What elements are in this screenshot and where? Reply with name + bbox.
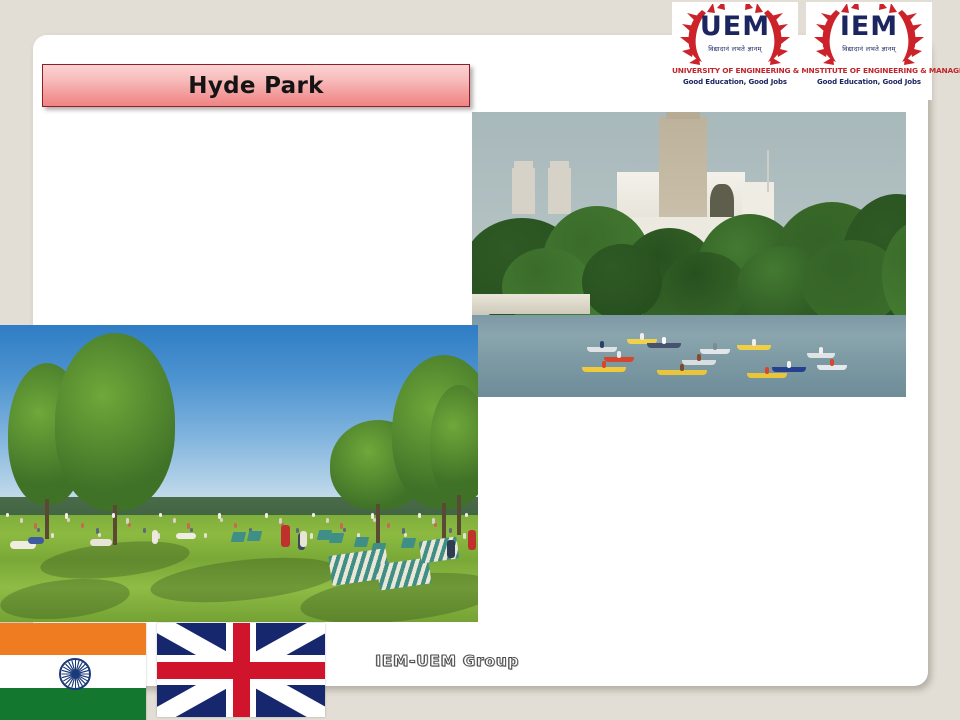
park-visitor [204, 533, 207, 538]
park-visitor [343, 528, 346, 532]
boater [752, 339, 756, 346]
boater [713, 343, 717, 350]
lawn-tree [55, 333, 175, 545]
park-visitor [152, 530, 158, 544]
india-flag [0, 623, 146, 720]
tree-trunk [45, 499, 49, 539]
rowing-boat [682, 360, 716, 365]
park-visitor [468, 530, 476, 550]
deck-chair [247, 531, 262, 541]
park-visitor [20, 518, 23, 523]
slide-title-box: Hyde Park [42, 64, 470, 107]
flag-mast [767, 150, 769, 192]
iem-logo-mark: IEM [806, 12, 932, 42]
park-visitor [6, 513, 9, 517]
boater [830, 359, 834, 366]
rowing-boat [604, 357, 634, 362]
tree-trunk [113, 505, 117, 545]
iem-logo-tagline: Good Education, Good Jobs [806, 78, 932, 86]
lawn-tree [430, 385, 478, 535]
park-visitor [281, 525, 290, 547]
park-visitor [447, 540, 455, 558]
rowing-boat [657, 370, 707, 375]
park-visitor [265, 513, 268, 518]
page-title: Hyde Park [188, 73, 323, 99]
serpentine-photo [472, 112, 906, 397]
park-visitor [465, 513, 468, 517]
uem-logo-tagline: Good Education, Good Jobs [672, 78, 798, 86]
rowing-boat [582, 367, 626, 372]
serpentine-water [472, 315, 906, 397]
park-visitor [326, 518, 329, 523]
deck-chair [354, 537, 369, 547]
park-visitor [404, 533, 407, 537]
tree-canopy [430, 385, 478, 501]
rowing-boat [700, 349, 730, 354]
park-visitor [310, 533, 313, 539]
boater [697, 354, 701, 361]
uem-logo-fullname: UNIVERSITY OF ENGINEERING & MANAGEMENT [672, 66, 798, 75]
tree-canopy [662, 252, 747, 324]
park-visitor [300, 531, 307, 547]
park-visitor [98, 533, 101, 537]
boater [787, 361, 791, 368]
uem-logo: UEM विद्यादानं लभते ज्ञानम् UNIVERSITY O… [672, 2, 798, 100]
picnicker [90, 539, 112, 546]
deck-chair [329, 533, 344, 543]
rowing-boat [807, 353, 835, 358]
deck-chair [231, 532, 246, 542]
ashoka-chakra-icon [59, 658, 91, 690]
uem-logo-motto: विद्यादानं लभते ज्ञानम् [672, 44, 798, 53]
footer-label: IEM-UEM Group [376, 652, 520, 670]
park-visitor [159, 513, 162, 517]
institution-logos: UEM विद्यादानं लभते ज्ञानम् UNIVERSITY O… [672, 2, 934, 102]
uk-flag [157, 623, 325, 717]
boater [617, 351, 621, 358]
boater [819, 347, 823, 354]
rowing-boat [817, 365, 847, 370]
tree-canopy [582, 244, 662, 320]
iem-logo: IEM विद्यादानं लभते ज्ञानम् INSTITUTE OF… [806, 2, 932, 100]
boater [680, 364, 684, 371]
rowing-boat [772, 367, 806, 372]
uem-logo-mark: UEM [672, 12, 798, 42]
park-visitor [312, 513, 315, 517]
boater [662, 337, 666, 344]
rowing-boat [747, 373, 787, 378]
boater [602, 361, 606, 368]
park-visitor [173, 518, 176, 523]
park-visitor [463, 533, 466, 539]
iem-logo-motto: विद्यादानं लभते ज्ञानम् [806, 44, 932, 53]
uk-red-vertical [233, 623, 250, 717]
park-visitor [143, 528, 146, 533]
park-visitor [449, 528, 452, 533]
tree-canopy [55, 333, 175, 511]
rowing-boat [647, 343, 681, 348]
rowing-boat [737, 345, 771, 350]
deck-chair [401, 538, 416, 548]
park-visitor [418, 513, 421, 518]
park-visitor [190, 528, 193, 532]
park-visitor [51, 533, 54, 538]
rowing-boat [587, 347, 617, 352]
tree-trunk [457, 495, 461, 535]
park-visitor [37, 528, 40, 532]
saffron-band [0, 623, 146, 655]
park-lawn-photo [0, 325, 478, 622]
stone-balustrade [472, 294, 590, 314]
boater [640, 333, 644, 340]
boater [765, 367, 769, 374]
green-band [0, 688, 146, 720]
tree-trunk [376, 504, 380, 544]
picnicker [28, 537, 44, 544]
picnicker [176, 533, 196, 539]
boater [600, 341, 604, 348]
iem-logo-fullname: INSTITUTE OF ENGINEERING & MANAGEMENT [806, 66, 932, 75]
park-visitor [296, 528, 299, 533]
park-visitor [112, 513, 115, 518]
